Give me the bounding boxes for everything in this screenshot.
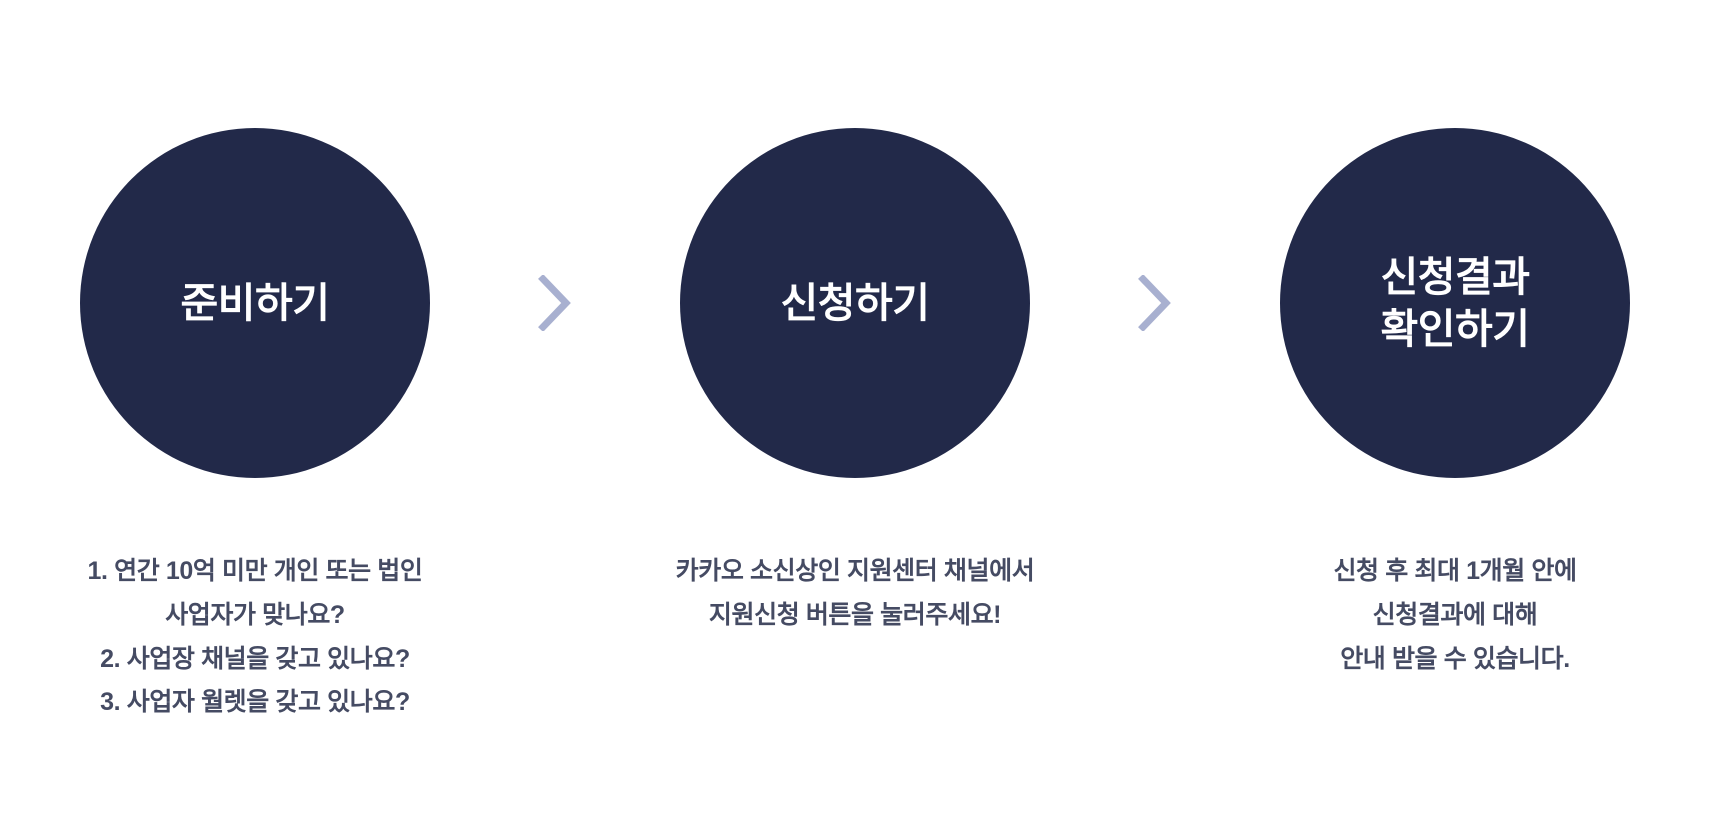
step-2-title-line-1: 신청하기 — [781, 277, 930, 329]
step-1-title-line-1: 준비하기 — [181, 277, 330, 329]
step-3-description: 신청 후 최대 1개월 안에 신청결과에 대해 안내 받을 수 있습니다. — [1235, 550, 1675, 681]
step-1-desc-line-3: 2. 사업장 채널을 갖고 있나요? — [35, 638, 475, 682]
step-1-circle: 준비하기 — [80, 128, 430, 478]
chevron-right-icon-2 — [1100, 128, 1210, 478]
step-1-description: 1. 연간 10억 미만 개인 또는 법인 사업자가 맞나요? 2. 사업장 채… — [35, 550, 475, 725]
flow-step-1: 준비하기 1. 연간 10억 미만 개인 또는 법인 사업자가 맞나요? 2. … — [10, 128, 500, 725]
step-2-description: 카카오 소신상인 지원센터 채널에서 지원신청 버튼을 눌러주세요! — [635, 550, 1075, 638]
step-2-desc-line-2: 지원신청 버튼을 눌러주세요! — [635, 594, 1075, 638]
process-flow-board: 준비하기 1. 연간 10억 미만 개인 또는 법인 사업자가 맞나요? 2. … — [0, 0, 1710, 836]
step-1-desc-line-1: 1. 연간 10억 미만 개인 또는 법인 — [35, 550, 475, 594]
step-2-desc-line-1: 카카오 소신상인 지원센터 채널에서 — [635, 550, 1075, 594]
step-3-desc-line-3: 안내 받을 수 있습니다. — [1235, 638, 1675, 682]
flow-step-2: 신청하기 카카오 소신상인 지원센터 채널에서 지원신청 버튼을 눌러주세요! — [610, 128, 1100, 638]
step-1-desc-line-4: 3. 사업자 월렛을 갖고 있나요? — [35, 681, 475, 725]
step-3-desc-line-2: 신청결과에 대해 — [1235, 594, 1675, 638]
steps-row: 준비하기 1. 연간 10억 미만 개인 또는 법인 사업자가 맞나요? 2. … — [0, 128, 1710, 725]
flow-step-3: 신청결과 확인하기 신청 후 최대 1개월 안에 신청결과에 대해 안내 받을 … — [1210, 128, 1700, 681]
step-3-title-line-1: 신청결과 — [1381, 251, 1530, 303]
step-3-desc-line-1: 신청 후 최대 1개월 안에 — [1235, 550, 1675, 594]
step-2-circle: 신청하기 — [680, 128, 1030, 478]
step-3-title-line-2: 확인하기 — [1381, 303, 1530, 355]
step-3-circle: 신청결과 확인하기 — [1280, 128, 1630, 478]
step-1-desc-line-2: 사업자가 맞나요? — [35, 594, 475, 638]
chevron-right-icon-1 — [500, 128, 610, 478]
